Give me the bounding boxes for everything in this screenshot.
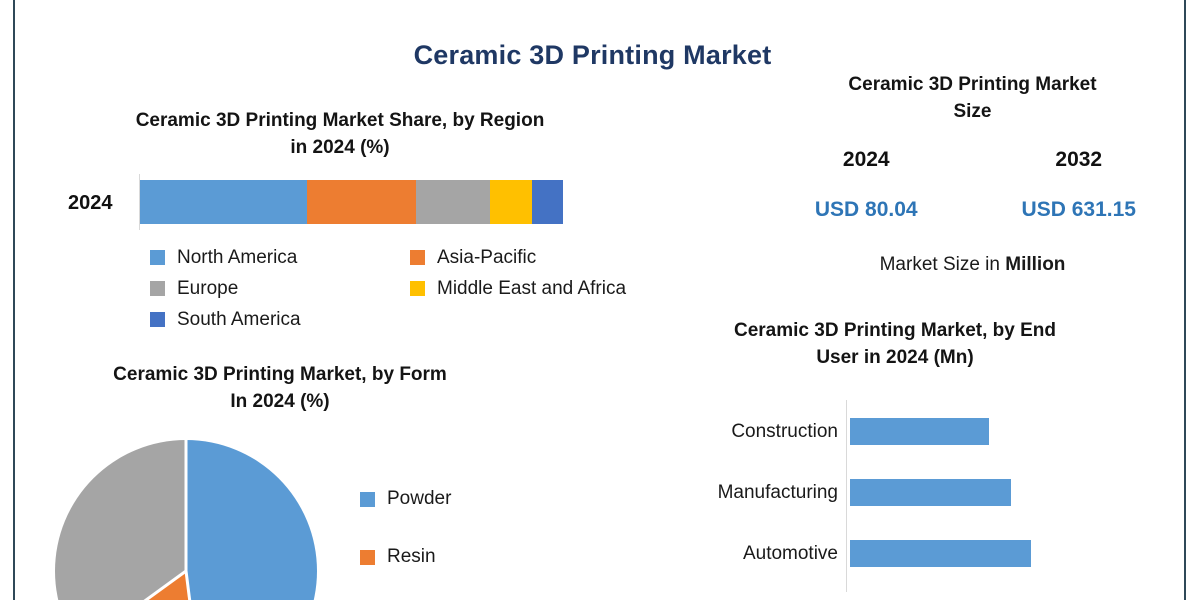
page-title: Ceramic 3D Printing Market (0, 40, 1185, 71)
form-chart-title-line2: In 2024 (%) (20, 389, 540, 416)
enduser-chart-title: Ceramic 3D Printing Market, by End User … (660, 318, 1130, 372)
region-legend-item[interactable]: Asia-Pacific (410, 242, 670, 273)
market-size-unit-bold: Million (1005, 254, 1065, 275)
region-legend-item[interactable]: North America (150, 242, 410, 273)
enduser-bar-label: Construction (660, 421, 850, 443)
market-size-title: Ceramic 3D Printing Market Size (760, 72, 1185, 126)
enduser-chart-title-line1: Ceramic 3D Printing Market, by End (660, 318, 1130, 345)
market-size-column-2024: 2024 USD 80.04 (760, 148, 973, 222)
enduser-bar-row: Manufacturing (660, 461, 1160, 525)
region-chart-title-line1: Ceramic 3D Printing Market Share, by Reg… (30, 108, 650, 135)
legend-swatch-icon (410, 281, 425, 296)
region-legend: North AmericaAsia-PacificEuropeMiddle Ea… (150, 242, 670, 335)
enduser-bar-row: Construction (660, 400, 1160, 464)
region-legend-label: North America (177, 247, 297, 269)
infographic-canvas: Ceramic 3D Printing Market Ceramic 3D Pr… (0, 0, 1200, 600)
region-legend-label: South America (177, 309, 301, 331)
region-share-section: Ceramic 3D Printing Market Share, by Reg… (30, 108, 650, 162)
region-legend-item[interactable]: South America (150, 304, 410, 335)
market-size-section: Ceramic 3D Printing Market Size 2024 USD… (760, 72, 1185, 126)
region-legend-label: Europe (177, 278, 238, 300)
legend-swatch-icon (360, 550, 375, 565)
region-chart-title: Ceramic 3D Printing Market Share, by Reg… (30, 108, 650, 162)
enduser-bar-fill (850, 479, 1011, 506)
market-size-columns: 2024 USD 80.04 2032 USD 631.15 (760, 148, 1185, 222)
legend-swatch-icon (360, 492, 375, 507)
enduser-bar-track (850, 522, 1160, 586)
enduser-bar-row: Automotive (660, 522, 1160, 586)
market-size-title-line2: Size (760, 99, 1185, 126)
enduser-chart-title-line2: User in 2024 (Mn) (660, 345, 1130, 372)
enduser-bar-track (850, 400, 1160, 464)
pie-slice-divider (185, 440, 188, 571)
region-category-label-2024: 2024 (68, 192, 113, 215)
region-segment-middle-east-and-africa (490, 180, 532, 224)
legend-swatch-icon (150, 312, 165, 327)
form-legend-item[interactable]: Resin (360, 528, 600, 586)
market-size-title-line1: Ceramic 3D Printing Market (760, 72, 1185, 99)
form-chart-title: Ceramic 3D Printing Market, by Form In 2… (20, 362, 540, 416)
region-legend-item[interactable]: Europe (150, 273, 410, 304)
region-legend-item[interactable]: Middle East and Africa (410, 273, 670, 304)
enduser-bar-fill (850, 418, 989, 445)
legend-swatch-icon (150, 250, 165, 265)
form-pie-chart (55, 440, 355, 600)
legend-swatch-icon (150, 281, 165, 296)
form-legend-label: Powder (387, 488, 451, 510)
region-stacked-bar (140, 180, 563, 224)
market-size-value-2024: USD 80.04 (760, 198, 973, 222)
form-legend-item[interactable]: Powder (360, 470, 600, 528)
form-legend: PowderResin (360, 470, 600, 586)
enduser-bar-chart: ConstructionManufacturingAutomotive (660, 400, 1160, 600)
region-segment-europe (416, 180, 490, 224)
market-size-unit-caption: Market Size in Million (760, 254, 1185, 276)
enduser-bar-label: Manufacturing (660, 482, 850, 504)
region-segment-asia-pacific (307, 180, 416, 224)
region-chart-title-line2: in 2024 (%) (30, 135, 650, 162)
enduser-bar-track (850, 461, 1160, 525)
region-stacked-bar-chart (139, 180, 563, 224)
form-chart-title-line1: Ceramic 3D Printing Market, by Form (20, 362, 540, 389)
market-size-year-2024: 2024 (760, 148, 973, 172)
region-segment-north-america (140, 180, 307, 224)
region-legend-label: Middle East and Africa (437, 278, 626, 300)
legend-swatch-icon (410, 250, 425, 265)
market-size-column-2032: 2032 USD 631.15 (973, 148, 1186, 222)
enduser-section: Ceramic 3D Printing Market, by End User … (660, 318, 1180, 372)
left-border-line (13, 0, 15, 600)
market-size-unit-prefix: Market Size in (880, 254, 1006, 275)
enduser-bar-fill (850, 540, 1031, 567)
form-legend-label: Resin (387, 546, 436, 568)
market-size-year-2032: 2032 (973, 148, 1186, 172)
form-share-section: Ceramic 3D Printing Market, by Form In 2… (20, 362, 620, 416)
region-segment-south-america (532, 180, 563, 224)
enduser-bar-label: Automotive (660, 543, 850, 565)
region-legend-label: Asia-Pacific (437, 247, 536, 269)
market-size-value-2032: USD 631.15 (973, 198, 1186, 222)
